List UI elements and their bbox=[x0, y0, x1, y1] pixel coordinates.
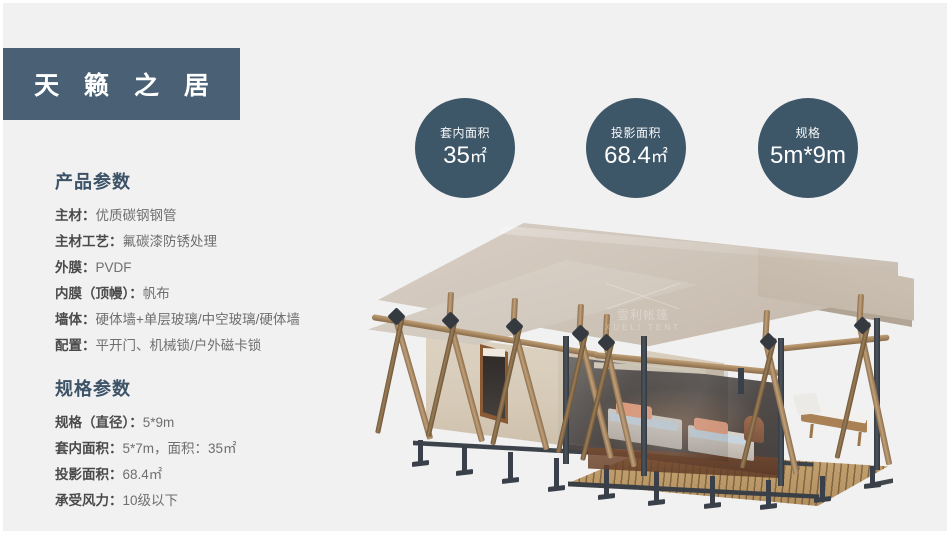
product-render-image: 雪利帐篷 XUELI TENT bbox=[358, 218, 950, 508]
spec-value: 氟碳漆防锈处理 bbox=[123, 234, 218, 249]
badge-value: 35㎡ bbox=[443, 142, 487, 170]
spec-label: 承受风力： bbox=[55, 493, 123, 508]
support-foot bbox=[704, 502, 721, 509]
spec-row: 规格（直径）：5*9m bbox=[55, 410, 385, 436]
badge-dimensions: 规格 5m*9m bbox=[758, 98, 858, 198]
product-parameters-section: 产品参数 主材：优质碳钢钢管 主材工艺：氟碳漆防锈处理 外膜：PVDF 内膜（顶… bbox=[55, 168, 385, 359]
specifications-panel: 产品参数 主材：优质碳钢钢管 主材工艺：氟碳漆防锈处理 外膜：PVDF 内膜（顶… bbox=[55, 168, 385, 526]
support-leg bbox=[418, 440, 423, 462]
spec-value: 5*9m bbox=[143, 415, 175, 430]
spec-row: 主材：优质碳钢钢管 bbox=[55, 203, 385, 229]
spec-label: 配置： bbox=[55, 338, 96, 353]
support-foot bbox=[456, 469, 473, 476]
poster-canvas: 天 籁 之 居 套内面积 35㎡ 投影面积 68.4㎡ 规格 5m*9m 产品参… bbox=[0, 0, 950, 534]
window-transom bbox=[483, 348, 505, 357]
badge-value: 68.4㎡ bbox=[604, 142, 668, 170]
spec-value: 平开门、机械锁/户外磁卡锁 bbox=[96, 338, 262, 353]
spec-row: 墙体：硬体墙+单层玻璃/中空玻璃/硬体墙 bbox=[55, 307, 385, 333]
spec-value: 68.4㎡ bbox=[123, 467, 163, 482]
support-foot bbox=[502, 477, 519, 484]
spec-value: 优质碳钢钢管 bbox=[96, 208, 177, 223]
badge-unit: ㎡ bbox=[651, 147, 668, 166]
badge-projected-area: 投影面积 68.4㎡ bbox=[586, 98, 686, 198]
support-leg bbox=[820, 476, 825, 498]
lounge-chair-leg bbox=[857, 432, 861, 446]
badge-value: 5m*9m bbox=[770, 142, 846, 170]
support-leg bbox=[766, 480, 771, 505]
watermark: 雪利帐篷 XUELI TENT bbox=[553, 280, 733, 336]
watermark-en: XUELI TENT bbox=[605, 322, 681, 333]
spec-row: 承受风力：10级以下 bbox=[55, 488, 385, 514]
lounge-chair-leg bbox=[809, 424, 813, 438]
title-band: 天 籁 之 居 bbox=[3, 48, 240, 120]
spec-label: 墙体： bbox=[55, 312, 96, 327]
section-title-spec: 规格参数 bbox=[55, 375, 385, 401]
section-title-product: 产品参数 bbox=[55, 168, 385, 194]
spec-row: 主材工艺：氟碳漆防锈处理 bbox=[55, 229, 385, 255]
support-leg bbox=[654, 471, 659, 501]
spec-label: 投影面积： bbox=[55, 467, 123, 482]
tent-logo-icon bbox=[606, 283, 680, 309]
support-foot bbox=[548, 485, 565, 492]
badge-label: 规格 bbox=[795, 126, 820, 140]
lounge-chair-backrest bbox=[793, 393, 822, 416]
spec-value: 5*7m，面积：35㎡ bbox=[123, 441, 237, 456]
spec-row: 套内面积：5*7m，面积：35㎡ bbox=[55, 436, 385, 462]
badge-interior-area: 套内面积 35㎡ bbox=[415, 98, 515, 198]
dimension-parameters-section: 规格参数 规格（直径）：5*9m 套内面积：5*7m，面积：35㎡ 投影面积：6… bbox=[55, 375, 385, 514]
support-leg bbox=[604, 465, 609, 495]
spec-row: 外膜：PVDF bbox=[55, 255, 385, 281]
spec-row: 配置：平开门、机械锁/户外磁卡锁 bbox=[55, 333, 385, 359]
spec-label: 内膜（顶幔）： bbox=[55, 286, 143, 301]
spec-value: PVDF bbox=[96, 260, 132, 275]
timber-brace bbox=[375, 315, 405, 433]
spec-value: 帆布 bbox=[143, 286, 170, 301]
spec-label: 套内面积： bbox=[55, 441, 123, 456]
support-leg bbox=[508, 452, 513, 479]
spec-row: 内膜（顶幔）：帆布 bbox=[55, 281, 385, 307]
badge-label: 投影面积 bbox=[611, 126, 661, 140]
spec-label: 规格（直径）： bbox=[55, 415, 143, 430]
watermark-cn: 雪利帐篷 bbox=[617, 309, 669, 322]
spec-label: 主材： bbox=[55, 208, 96, 223]
support-foot bbox=[814, 496, 831, 503]
spec-row: 投影面积：68.4㎡ bbox=[55, 462, 385, 488]
eave-beam bbox=[778, 334, 890, 352]
support-leg bbox=[710, 476, 715, 504]
support-foot bbox=[760, 503, 777, 510]
steel-post bbox=[738, 368, 744, 394]
spec-label: 主材工艺： bbox=[55, 234, 123, 249]
badge-unit: ㎡ bbox=[470, 147, 487, 166]
support-foot bbox=[648, 499, 665, 506]
support-foot bbox=[412, 460, 429, 467]
spec-label: 外膜： bbox=[55, 260, 96, 275]
badge-label: 套内面积 bbox=[440, 126, 490, 140]
page-title: 天 籁 之 居 bbox=[25, 66, 218, 102]
support-leg bbox=[554, 458, 559, 487]
support-foot bbox=[598, 493, 615, 500]
spec-value: 10级以下 bbox=[123, 493, 179, 508]
spec-value: 硬体墙+单层玻璃/中空玻璃/硬体墙 bbox=[96, 312, 300, 327]
support-foot bbox=[864, 482, 881, 489]
steel-post bbox=[641, 336, 647, 476]
support-leg bbox=[462, 446, 467, 471]
